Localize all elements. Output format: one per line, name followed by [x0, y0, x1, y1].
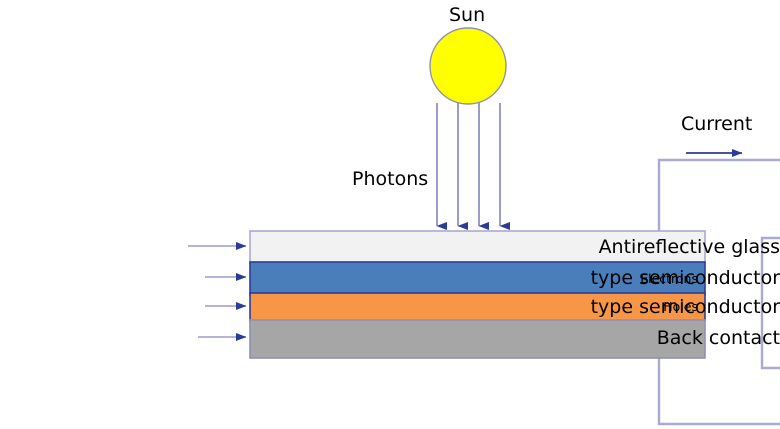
photon-arrows: [437, 103, 500, 226]
inner-label-holes: Holes: [500, 301, 698, 314]
photons-label: Photons: [352, 170, 428, 189]
inner-label-electrons: Electrons: [500, 273, 698, 286]
diagram-canvas: [0, 0, 780, 429]
sun-label: Sun: [449, 6, 485, 25]
label-antireflective-glass: Antireflective glass: [597, 238, 780, 257]
sun-icon: [430, 28, 506, 104]
circuit-wire-top: [659, 160, 780, 240]
label-leader-arrows: [188, 246, 246, 337]
solar-cell-diagram: Sun Photons Current Antireflective glass…: [0, 0, 780, 429]
label-back-contact: Back contact: [587, 329, 780, 348]
current-label: Current: [681, 115, 752, 134]
